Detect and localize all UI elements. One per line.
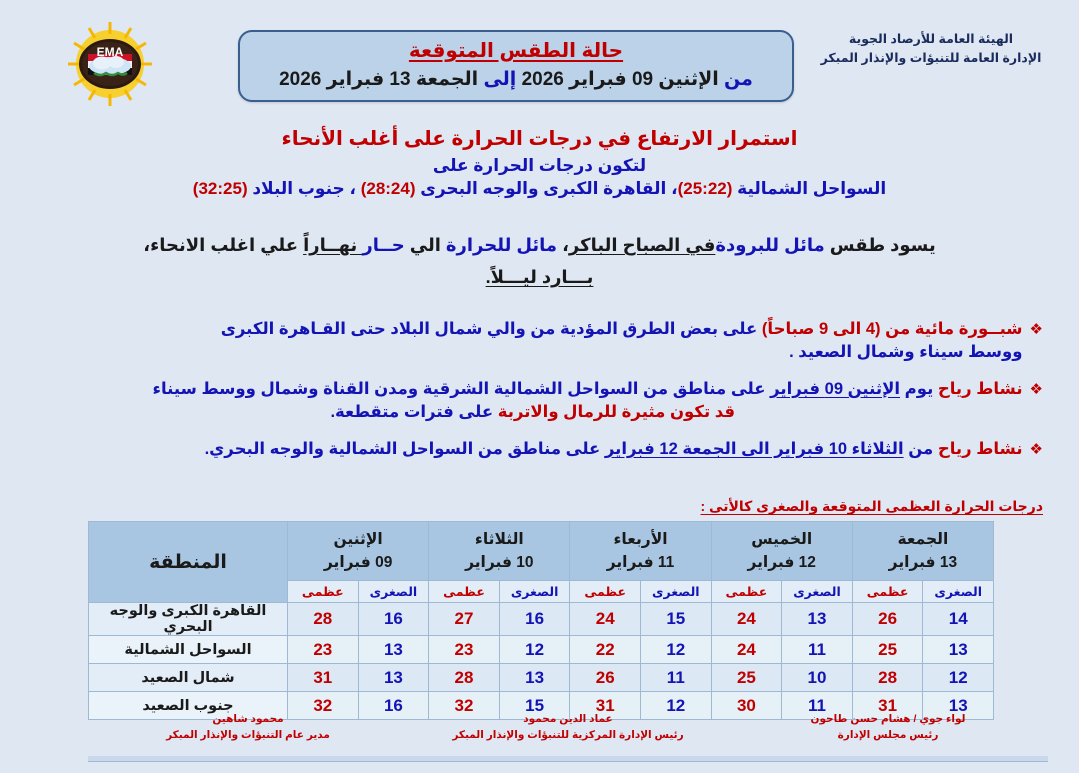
range-north-coast: (25:22) — [678, 179, 733, 198]
day-name: الثلاثاء — [429, 528, 569, 551]
bullet-diamond-icon: ❖ — [1030, 378, 1043, 400]
signature-block: لواء جوي / هشام حسن طاحون رئيس مجلس الإد… — [728, 712, 1048, 744]
signature-name: محمود شاهين — [88, 712, 408, 728]
cell-max: 28 — [288, 603, 359, 636]
cell-max: 28 — [852, 664, 923, 692]
day-date: 10 فبراير — [429, 551, 569, 574]
desc-seg-daytime: نهــاراً — [303, 235, 362, 255]
min-label-tuesday: الصغرى — [499, 581, 570, 603]
signature-block: عماد الدين محمود رئيس الإدارة المركزية ل… — [408, 712, 728, 744]
cell-min: 11 — [641, 664, 712, 692]
advisory-wind-tuefri-text: نشاط رياح من الثلاثاء 10 فبراير الى الجم… — [43, 438, 1023, 461]
max-label-friday: عظمى — [852, 581, 923, 603]
weather-description: يسود طقس مائل للبرودةفي الصباح الباكر، م… — [0, 232, 1079, 292]
day-header-friday: الجمعة 13 فبراير — [852, 522, 993, 581]
cell-min: 13 — [499, 664, 570, 692]
wind-tf-seg-1: نشاط رياح — [933, 440, 1022, 458]
row-region-label: السواحل الشمالية — [89, 636, 288, 664]
desc-seg-1: يسود طقس — [825, 235, 936, 255]
day-name: الأربعاء — [570, 528, 710, 551]
logo-text: EMA — [97, 45, 124, 59]
page-title: حالة الطقس المتوقعة — [240, 38, 792, 63]
list-item: ❖ نشاط رياح يوم الإثنين 09 فبراير على من… — [43, 378, 1043, 425]
bullet-diamond-icon: ❖ — [1030, 318, 1043, 340]
cell-min: 13 — [358, 636, 429, 664]
list-item: ❖ شبــورة مائية من (4 الى 9 صباحاً) على … — [43, 318, 1043, 365]
range-south: (32:25) — [193, 179, 248, 198]
headline-line-2: لتكون درجات الحرارة على — [0, 156, 1079, 176]
fog-time-range: (4 الى 9 صباحاً) — [762, 320, 881, 338]
footer-divider — [88, 756, 1048, 762]
row-region-label: القاهرة الكبرى والوجه البحري — [89, 603, 288, 636]
date-range-to: الجمعة 13 فبراير 2026 — [279, 69, 478, 90]
cell-max: 23 — [429, 636, 500, 664]
wind-tf-dates: الثلاثاء 10 فبراير الى الجمعة 12 فبراير — [605, 440, 904, 458]
description-line-1: يسود طقس مائل للبرودةفي الصباح الباكر، م… — [0, 232, 1079, 260]
table-row: 12 28 10 25 11 26 13 28 13 31 شمال الصعي… — [89, 664, 994, 692]
cell-max: 26 — [852, 603, 923, 636]
fog-seg-1: شبــورة مائية من — [881, 320, 1023, 338]
day-date: 13 فبراير — [853, 551, 993, 574]
day-header-monday: الإثنين 09 فبراير — [288, 522, 429, 581]
cell-max: 24 — [570, 603, 641, 636]
wind-mon-intervals: على فترات متقطعة. — [330, 403, 497, 421]
org-line-2: الإدارة العامة للتنبؤات والإنذار المبكر — [801, 49, 1061, 68]
max-label-thursday: عظمى — [711, 581, 782, 603]
cell-min: 16 — [358, 603, 429, 636]
date-range-prefix: من — [719, 69, 753, 90]
fog-seg-4: ووسط سيناء وشمال الصعيد . — [43, 341, 1023, 364]
desc-seg-to: الي — [405, 235, 446, 255]
max-label-tuesday: عظمى — [429, 581, 500, 603]
wind-mon-seg-4: على مناطق من السواحل الشمالية الشرقية وم… — [153, 380, 771, 398]
cell-min: 10 — [782, 664, 853, 692]
wind-tf-seg-4: على مناطق من السواحل الشمالية والوجه الب… — [205, 440, 605, 458]
cell-max: 24 — [711, 636, 782, 664]
cell-min: 16 — [499, 603, 570, 636]
cell-min: 13 — [782, 603, 853, 636]
temperature-table: الجمعة 13 فبراير الخميس 12 فبراير الأربع… — [88, 521, 994, 720]
date-range-from: الإثنين 09 فبراير 2026 — [522, 69, 719, 90]
cell-min: 12 — [923, 664, 994, 692]
region-cairo-delta-label: ، القاهرة الكبرى والوجه البحرى — [416, 179, 678, 198]
day-name: الجمعة — [853, 528, 993, 551]
signature-name: عماد الدين محمود — [408, 712, 728, 728]
cell-min: 15 — [641, 603, 712, 636]
wind-mon-seg-2: يوم — [900, 380, 933, 398]
cell-max: 25 — [711, 664, 782, 692]
day-header-thursday: الخميس 12 فبراير — [711, 522, 852, 581]
cell-min: 13 — [358, 664, 429, 692]
signature-title: رئيس مجلس الإدارة — [728, 728, 1048, 744]
temperature-table-wrap: الجمعة 13 فبراير الخميس 12 فبراير الأربع… — [88, 521, 994, 720]
range-cairo-delta: (28:24) — [361, 179, 416, 198]
desc-seg-cool: مائل للبرودة — [715, 235, 824, 255]
day-name: الإثنين — [288, 528, 428, 551]
day-date: 11 فبراير — [570, 551, 710, 574]
fog-seg-3: على بعض الطرق المؤدية من والي شمال البلا… — [221, 320, 762, 338]
table-caption: درجات الحرارة العظمى المتوقعة والصغرى كا… — [700, 498, 1043, 515]
wind-mon-seg-1: نشاط رياح — [933, 380, 1022, 398]
signature-title: مدير عام التنبؤات والإنذار المبكر — [88, 728, 408, 744]
desc-seg-most-areas: علي اغلب الانحاء، — [143, 235, 303, 255]
org-line-1: الهيئة العامة للأرصاد الجوية — [801, 30, 1061, 49]
signature-footer: لواء جوي / هشام حسن طاحون رئيس مجلس الإد… — [88, 712, 1048, 744]
advisory-list: ❖ شبــورة مائية من (4 الى 9 صباحاً) على … — [43, 318, 1043, 474]
headline-line-1: استمرار الارتفاع في درجات الحرارة على أغ… — [0, 126, 1079, 151]
cell-min: 11 — [782, 636, 853, 664]
cell-min: 13 — [923, 636, 994, 664]
day-date: 12 فبراير — [712, 551, 852, 574]
date-range: من الإثنين 09 فبراير 2026 إلى الجمعة 13 … — [240, 68, 792, 91]
wind-tf-seg-2: من — [904, 440, 934, 458]
day-header-wednesday: الأربعاء 11 فبراير — [570, 522, 711, 581]
min-label-monday: الصغرى — [358, 581, 429, 603]
forecast-page: EMA الهيئة العامة للأرصاد الجوية الإدارة… — [0, 0, 1079, 773]
advisory-wind-monday-text: نشاط رياح يوم الإثنين 09 فبراير على مناط… — [43, 378, 1023, 425]
organization-header: الهيئة العامة للأرصاد الجوية الإدارة الع… — [801, 30, 1061, 69]
signature-block: محمود شاهين مدير عام التنبؤات والإنذار ا… — [88, 712, 408, 744]
date-range-mid: إلى — [478, 69, 521, 90]
headline-block: استمرار الارتفاع في درجات الحرارة على أغ… — [0, 126, 1079, 199]
min-label-friday: الصغرى — [923, 581, 994, 603]
desc-seg-morning: في الصباح الباكر — [569, 235, 715, 255]
day-header-tuesday: الثلاثاء 10 فبراير — [429, 522, 570, 581]
min-label-wednesday: الصغرى — [641, 581, 712, 603]
cell-max: 27 — [429, 603, 500, 636]
ema-logo: EMA — [57, 20, 163, 108]
cell-min: 14 — [923, 603, 994, 636]
row-region-label: شمال الصعيد — [89, 664, 288, 692]
min-label-thursday: الصغرى — [782, 581, 853, 603]
wind-mon-sand: قد تكون مثيرة للرمال والاتربة — [498, 403, 735, 421]
region-south-label: ، جنوب البلاد — [248, 179, 361, 198]
table-row: 13 25 11 24 12 22 12 23 13 23 السواحل ال… — [89, 636, 994, 664]
table-row: 14 26 13 24 15 24 16 27 16 28 القاهرة ال… — [89, 603, 994, 636]
day-name: الخميس — [712, 528, 852, 551]
cell-max: 26 — [570, 664, 641, 692]
day-date: 09 فبراير — [288, 551, 428, 574]
headline-line-3: السواحل الشمالية (25:22)، القاهرة الكبرى… — [0, 179, 1079, 199]
wind-mon-day: الإثنين 09 فبراير — [770, 380, 900, 398]
title-box: حالة الطقس المتوقعة من الإثنين 09 فبراير… — [238, 30, 794, 102]
cell-min: 12 — [499, 636, 570, 664]
cell-max: 31 — [288, 664, 359, 692]
max-label-wednesday: عظمى — [570, 581, 641, 603]
region-north-coast-label: السواحل الشمالية — [732, 179, 886, 198]
description-line-2: بـــارد ليـــلاً. — [0, 264, 1079, 292]
advisory-fog-text: شبــورة مائية من (4 الى 9 صباحاً) على بع… — [43, 318, 1023, 365]
desc-seg-warm: مائل للحرارة — [446, 235, 557, 255]
cell-min: 12 — [641, 636, 712, 664]
region-column-header: المنطقة — [89, 522, 288, 603]
desc-seg-hot: حــار — [362, 235, 404, 255]
cell-max: 23 — [288, 636, 359, 664]
desc-seg-comma: ، — [557, 235, 569, 255]
cell-max: 22 — [570, 636, 641, 664]
cell-max: 25 — [852, 636, 923, 664]
table-header-days: الجمعة 13 فبراير الخميس 12 فبراير الأربع… — [89, 522, 994, 581]
cell-max: 24 — [711, 603, 782, 636]
list-item: ❖ نشاط رياح من الثلاثاء 10 فبراير الى ال… — [43, 438, 1043, 461]
signature-name: لواء جوي / هشام حسن طاحون — [728, 712, 1048, 728]
max-label-monday: عظمى — [288, 581, 359, 603]
desc-seg-cold-night: بـــارد ليـــلاً. — [486, 267, 594, 287]
signature-title: رئيس الإدارة المركزية للتنبؤات والإنذار … — [408, 728, 728, 744]
wind-mon-line-2: قد تكون مثيرة للرمال والاتربة على فترات … — [43, 401, 1023, 424]
bullet-diamond-icon: ❖ — [1030, 438, 1043, 460]
cell-max: 28 — [429, 664, 500, 692]
